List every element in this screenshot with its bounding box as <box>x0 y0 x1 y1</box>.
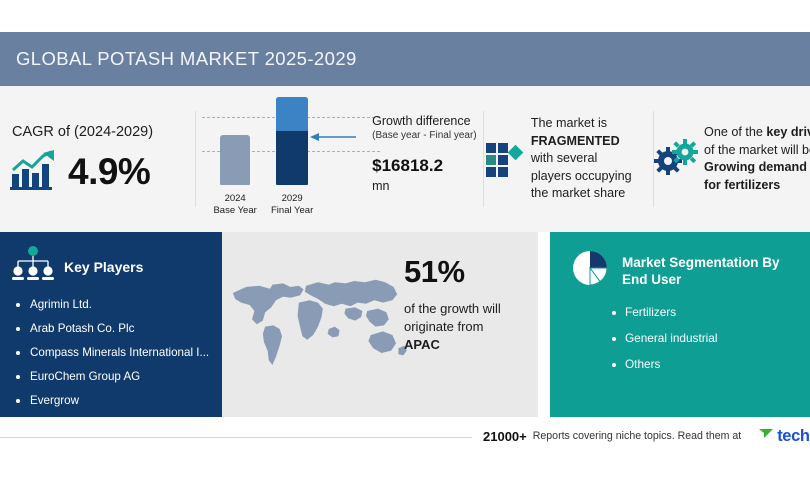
region-stat: 51% of the growth will originate from AP… <box>404 254 544 354</box>
region-percent: 51% <box>404 254 544 290</box>
panel-gap <box>538 232 550 417</box>
growth-callout-title: Growth difference <box>372 114 476 129</box>
region-line-2: originate from <box>404 319 483 334</box>
cagr-cell: CAGR of (2024-2029) 4.9% <box>0 86 195 232</box>
frag-line-2: FRAGMENTED <box>531 134 620 148</box>
footer-bar: 21000+ Reports covering niche topics. Re… <box>0 417 810 457</box>
world-map-icon <box>228 266 408 386</box>
segmentation-title-line-1: Market Segmentation By <box>622 255 780 270</box>
bar-label-2024: 2024 Base Year <box>206 193 264 217</box>
footer-content: 21000+ Reports covering niche topics. Re… <box>483 426 810 446</box>
list-item: Compass Minerals International I... <box>16 345 212 360</box>
region-line-1: of the growth will <box>404 301 501 316</box>
frag-line-1: The market is <box>531 116 607 130</box>
mosaic-squares-icon <box>484 135 524 184</box>
segmentation-header: Market Segmentation By End User <box>570 248 800 293</box>
footer-divider <box>0 437 472 438</box>
driver-line-1-pre: One of the <box>704 125 766 139</box>
org-chart-people-icon <box>12 246 54 287</box>
growth-amount: $16818.2 <box>372 156 476 176</box>
top-stats-strip: CAGR of (2024-2029) 4.9% <box>0 86 810 232</box>
technavio-wordmark: technavi <box>777 427 810 446</box>
driver-line-1-bold: key drivers <box>766 125 810 139</box>
cagr-value: 4.9% <box>68 151 150 193</box>
list-item: Others <box>612 357 800 372</box>
fragmentation-text: The market is FRAGMENTED with several pl… <box>531 115 632 203</box>
list-item: General industrial <box>612 331 800 346</box>
bar-label-2029: 2029 Final Year <box>260 193 324 217</box>
list-item: Fertilizers <box>612 305 800 320</box>
key-players-list: Agrimin Ltd. Arab Potash Co. Plc Compass… <box>12 297 212 408</box>
driver-line-3: Growing demand <box>704 160 807 174</box>
cagr-row: 4.9% <box>10 150 150 195</box>
segmentation-list: Fertilizers General industrial Others <box>570 305 800 372</box>
bar-final-year <box>276 97 308 185</box>
infographic-page: GLOBAL POTASH MARKET 2025-2029 CAGR of (… <box>0 0 810 480</box>
segmentation-panel: Market Segmentation By End User Fertiliz… <box>550 232 810 417</box>
technavio-mark-icon <box>759 426 774 446</box>
frag-line-4: players occupying <box>531 169 632 183</box>
region-panel: 51% of the growth will originate from AP… <box>222 232 550 417</box>
frag-line-3: with several <box>531 151 598 165</box>
driver-line-4: for fertilizers <box>704 178 780 192</box>
growth-difference-text: Growth difference (Base year - Final yea… <box>372 114 476 193</box>
key-drivers-text: One of the key drivers of the market wil… <box>704 124 810 194</box>
list-item: Evergrow <box>16 393 212 408</box>
key-players-title: Key Players <box>64 259 143 275</box>
list-item: Agrimin Ltd. <box>16 297 212 312</box>
growth-callout-subtitle: (Base year - Final year) <box>372 129 476 142</box>
segmentation-title-line-2: End User <box>622 272 681 287</box>
header-bar: GLOBAL POTASH MARKET 2025-2029 <box>0 32 810 86</box>
pie-chart-icon <box>570 248 610 293</box>
page-title: GLOBAL POTASH MARKET 2025-2029 <box>0 48 357 70</box>
bar-chart-growth-icon <box>10 150 56 195</box>
region-line-3: APAC <box>404 337 440 352</box>
bar-base-year <box>220 135 250 185</box>
list-item: EuroChem Group AG <box>16 369 212 384</box>
list-item: Arab Potash Co. Plc <box>16 321 212 336</box>
bar-growth-segment <box>276 97 308 131</box>
cagr-label: CAGR of (2024-2029) <box>12 124 153 140</box>
growth-unit: mn <box>372 179 476 193</box>
footer-text: Reports covering niche topics. Read them… <box>533 430 741 442</box>
key-players-header: Key Players <box>12 246 212 287</box>
driver-line-2: of the market will be the <box>704 143 810 157</box>
market-fragmentation-cell: The market is FRAGMENTED with several pl… <box>484 86 653 232</box>
key-drivers-cell: One of the key drivers of the market wil… <box>654 86 810 232</box>
technavio-logo[interactable]: technavi <box>759 426 810 446</box>
growth-bar-chart: 2024 Base Year 2029 Final Year <box>202 99 332 219</box>
region-description: of the growth will originate from APAC <box>404 300 544 354</box>
middle-band: Key Players Agrimin Ltd. Arab Potash Co.… <box>0 232 810 417</box>
growth-difference-cell: 2024 Base Year 2029 Final Year Growth di… <box>196 86 483 232</box>
frag-line-5: the market share <box>531 186 626 200</box>
logo-part-tech: tech <box>777 427 809 445</box>
callout-arrow-icon <box>310 129 356 139</box>
key-players-panel: Key Players Agrimin Ltd. Arab Potash Co.… <box>0 232 222 417</box>
segmentation-title: Market Segmentation By End User <box>622 254 780 288</box>
reports-count: 21000+ <box>483 429 527 444</box>
gears-icon <box>654 137 698 182</box>
